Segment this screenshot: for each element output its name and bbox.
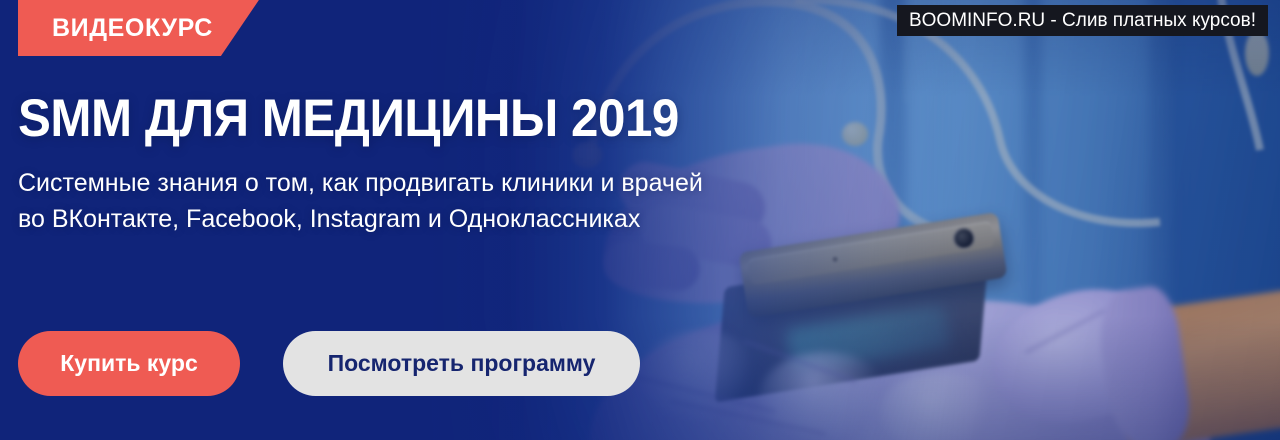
videocourse-badge: ВИДЕОКУРС <box>18 0 259 56</box>
course-promo-banner: ВИДЕОКУРС BOOMINFO.RU - Слив платных кур… <box>0 0 1280 440</box>
buy-course-button[interactable]: Купить курс <box>18 331 240 396</box>
subtitle-line-1: Системные знания о том, как продвигать к… <box>18 166 703 202</box>
view-program-button[interactable]: Посмотреть программу <box>283 331 640 396</box>
banner-content: ВИДЕОКУРС BOOMINFO.RU - Слив платных кур… <box>0 0 1280 440</box>
subtitle-line-2: во ВКонтакте, Facebook, Instagram и Одно… <box>18 202 703 238</box>
cta-button-group: Купить курс Посмотреть программу <box>18 331 640 396</box>
site-watermark: BOOMINFO.RU - Слив платных курсов! <box>897 5 1268 36</box>
page-title: SMM ДЛЯ МЕДИЦИНЫ 2019 <box>18 92 679 145</box>
subtitle: Системные знания о том, как продвигать к… <box>18 166 703 237</box>
